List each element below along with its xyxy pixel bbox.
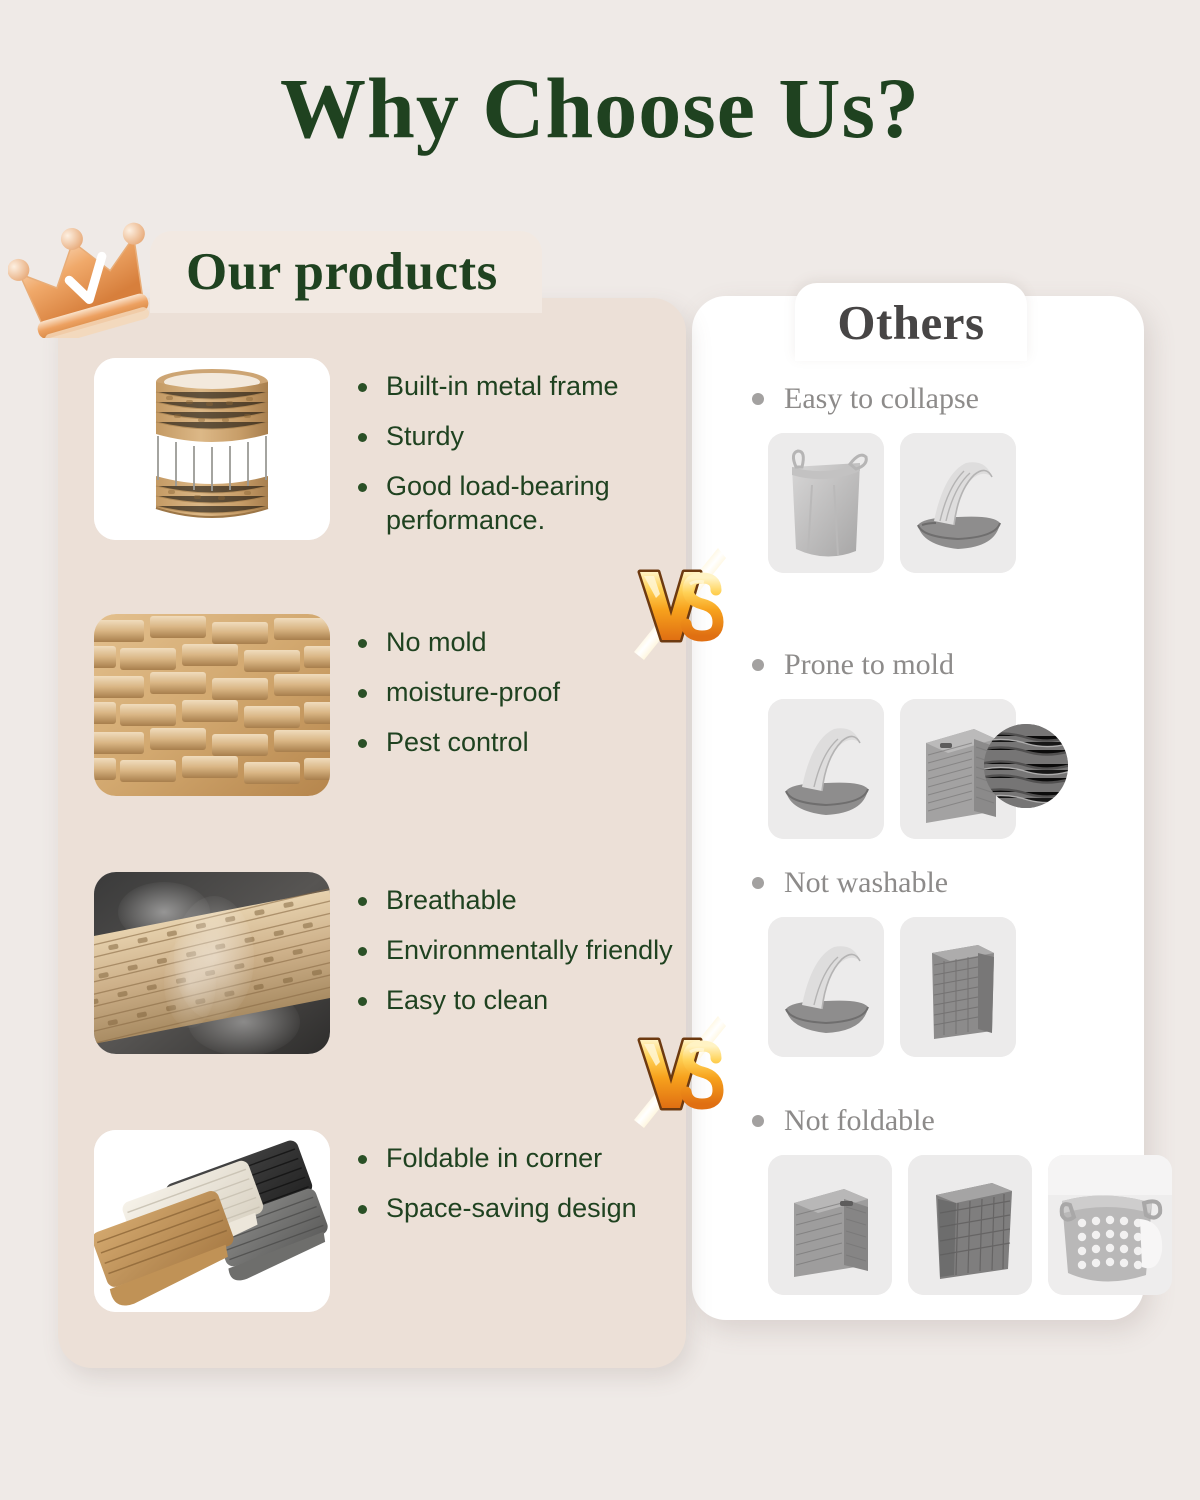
our-products-tab-label: Our products <box>186 242 498 302</box>
others-thumb-group <box>748 433 1148 573</box>
collapsed-woven-hamper-photo <box>768 917 884 1057</box>
bullet-item: No mold <box>356 626 674 659</box>
bullet-item: Sturdy <box>356 420 674 453</box>
mold-texture-closeup-inset <box>984 724 1068 808</box>
open-woven-hamper-photo <box>908 1155 1032 1295</box>
our-products-bullets: Foldable in corner Space-saving design <box>356 1130 674 1225</box>
our-products-row-no-mold: No mold moisture-proof Pest control <box>94 614 674 796</box>
our-products-row-breathable: Breathable Environmentally friendly Easy… <box>94 872 674 1054</box>
bullet-item: Environmentally friendly <box>356 934 674 967</box>
bullet-item: Easy to clean <box>356 984 674 1017</box>
others-row-prone-to-mold: Prone to mold <box>748 648 1148 839</box>
our-products-bullets: Breathable Environmentally friendly Easy… <box>356 872 674 1018</box>
others-tab-label: Others <box>837 294 984 351</box>
vs-badge-bottom <box>630 1010 726 1134</box>
page-title: Why Choose Us? <box>0 58 1200 158</box>
others-thumb-group <box>748 699 1148 839</box>
gray-fabric-hamper-photo <box>768 433 884 573</box>
our-products-bullets: Built-in metal frame Sturdy Good load-be… <box>356 358 674 537</box>
folded-woven-mats-photo <box>94 1130 330 1312</box>
bullet-item: Pest control <box>356 726 674 759</box>
lidded-woven-hamper-photo <box>768 1155 892 1295</box>
tall-woven-hamper-photo <box>900 917 1016 1057</box>
our-products-tab: Our products <box>150 231 542 313</box>
others-row-label: Not washable <box>748 866 1148 899</box>
bullet-item: Breathable <box>356 884 674 917</box>
vs-badge-top <box>630 542 726 666</box>
crown-icon <box>8 216 176 338</box>
bullet-item: Foldable in corner <box>356 1142 674 1175</box>
our-products-row-metal-frame: Built-in metal frame Sturdy Good load-be… <box>94 358 674 540</box>
others-row-label: Not foldable <box>748 1104 1148 1137</box>
woven-rattan-weave-closeup-photo <box>94 614 330 796</box>
others-tab: Others <box>795 283 1027 361</box>
others-row-label: Easy to collapse <box>748 382 1148 415</box>
collapsed-woven-hamper-photo <box>900 433 1016 573</box>
bullet-item: Good load-bearing performance. <box>356 470 674 536</box>
others-row-label: Prone to mold <box>748 648 1148 681</box>
wicker-basket-metal-frame-photo <box>94 358 330 540</box>
others-row-not-foldable: Not foldable <box>748 1104 1148 1295</box>
bullet-item: moisture-proof <box>356 676 674 709</box>
collapsed-woven-hamper-photo <box>768 699 884 839</box>
bullet-item: Built-in metal frame <box>356 370 674 403</box>
our-products-row-foldable: Foldable in corner Space-saving design <box>94 1130 674 1312</box>
others-row-not-washable: Not washable <box>748 866 1148 1057</box>
plastic-perforated-basket-photo <box>1048 1155 1172 1295</box>
breathable-weave-steam-photo <box>94 872 330 1054</box>
others-thumb-group <box>748 917 1148 1057</box>
bullet-item: Space-saving design <box>356 1192 674 1225</box>
others-row-easy-to-collapse: Easy to collapse <box>748 382 1148 573</box>
others-thumb-group <box>748 1155 1148 1295</box>
our-products-bullets: No mold moisture-proof Pest control <box>356 614 674 760</box>
